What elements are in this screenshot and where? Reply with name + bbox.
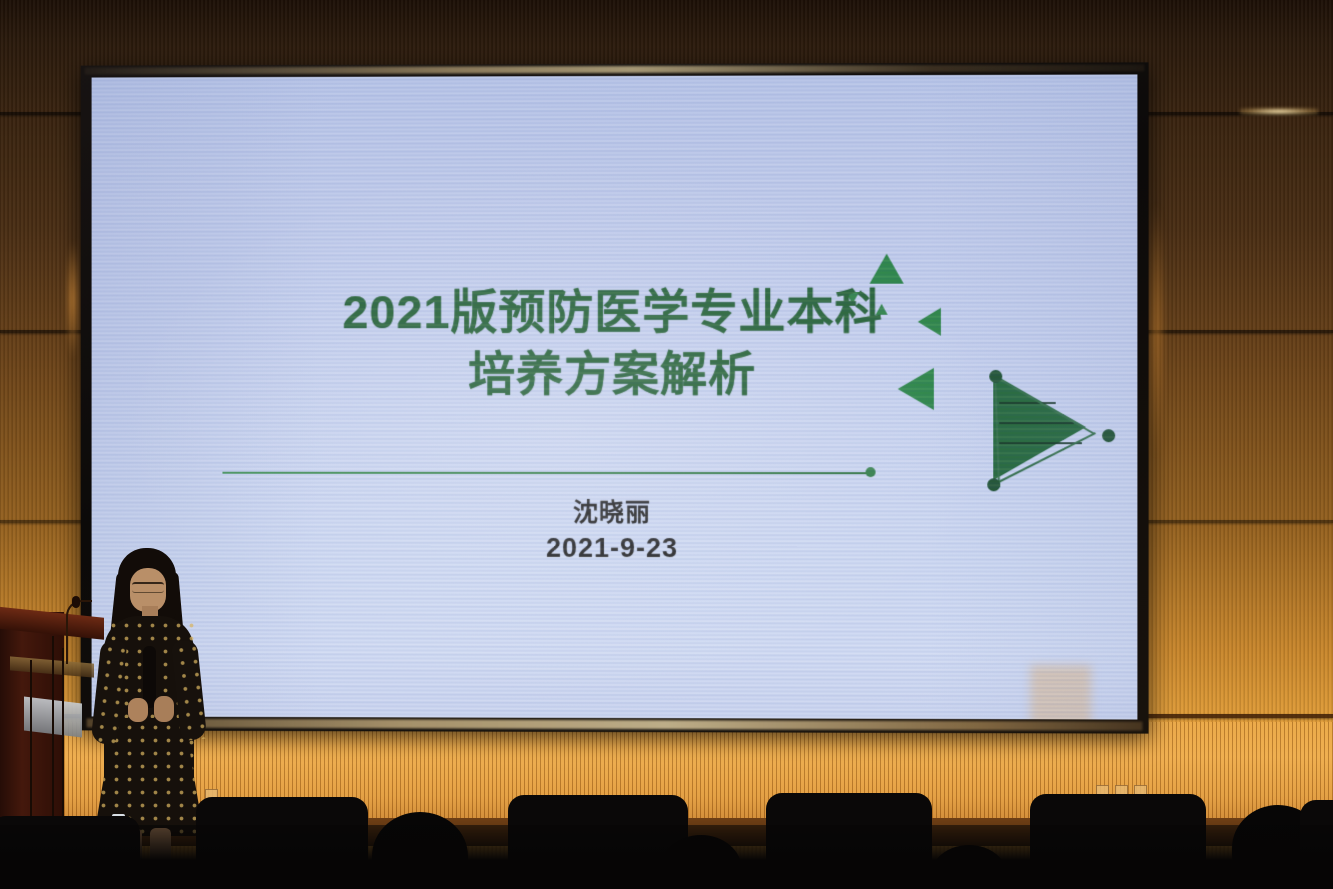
cable — [62, 648, 76, 834]
microphone-head-icon — [72, 596, 80, 608]
divider-end-dot-icon — [866, 467, 876, 477]
foreground-shadow — [0, 825, 1333, 889]
projection-screen-frame: 2021版预防医学专业本科 培养方案解析 沈晓丽 2021-9-23 — [81, 62, 1149, 733]
frame-highlight-top — [85, 64, 1145, 74]
presenter-hand-left — [128, 698, 148, 722]
frame-highlight-bottom — [87, 718, 1143, 730]
slide-divider-line — [222, 472, 871, 474]
slide-presenter-block: 沈晓丽 2021-9-23 — [92, 496, 1138, 567]
projected-slide: 2021版预防医学专业本科 培养方案解析 沈晓丽 2021-9-23 — [92, 74, 1138, 719]
wall-light-glow-right — [1148, 200, 1164, 460]
slide-title-line-1: 2021版预防医学专业本科 — [342, 285, 882, 338]
cable — [30, 660, 42, 830]
triangle-node-dot — [1102, 429, 1115, 442]
glasses-icon — [132, 582, 164, 593]
slide-title: 2021版预防医学专业本科 培养方案解析 — [92, 280, 1138, 405]
triangle-stripe — [999, 422, 1074, 424]
presenter-name: 沈晓丽 — [92, 496, 1138, 531]
presentation-date: 2021-9-23 — [92, 529, 1138, 566]
triangle-node-dot — [987, 478, 1000, 491]
presenter-hand-right — [154, 696, 174, 722]
lecture-hall-photo: 2021版预防医学专业本科 培养方案解析 沈晓丽 2021-9-23 — [0, 0, 1333, 889]
slide-title-line-2: 培养方案解析 — [92, 343, 1138, 405]
triangle-up-small-icon — [870, 254, 904, 284]
screen-reflection-patch — [1031, 665, 1091, 720]
ceiling-light-glow — [1240, 108, 1318, 115]
handheld-microphone-icon — [143, 646, 156, 708]
wall-light-glow-left — [66, 240, 80, 360]
